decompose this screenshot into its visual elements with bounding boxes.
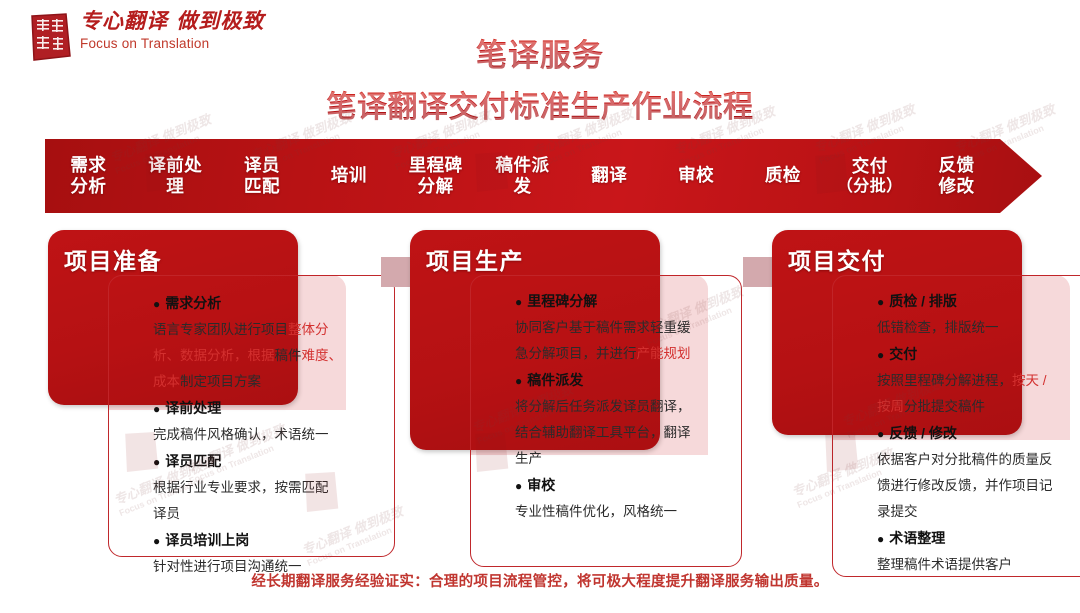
- phase-item-title: ●译前处理: [153, 395, 398, 422]
- step-label-line1: 稿件派: [481, 155, 564, 176]
- bullet-dot-icon: ●: [877, 348, 884, 362]
- desc-text: 语言专家团队进行项目: [153, 322, 288, 337]
- process-step-3[interactable]: 译员匹配: [219, 155, 306, 198]
- step-label-line2: 发: [481, 176, 564, 197]
- phase-item-desc-line: 根据行业专业要求，按需匹配: [153, 475, 398, 501]
- accent-square: [743, 257, 773, 287]
- phase-item-title: ●译员培训上岗: [153, 527, 398, 554]
- step-label-line1: 翻译: [568, 165, 651, 186]
- title-main: 笔译服务: [0, 30, 1080, 75]
- step-label-line1: 需求: [47, 155, 130, 176]
- process-step-1[interactable]: 需求分析: [45, 155, 132, 198]
- bullet-dot-icon: ●: [877, 295, 884, 309]
- desc-highlight: 整体分: [288, 322, 329, 337]
- step-label-line2: 理: [134, 176, 217, 197]
- phase-item-desc-line: 协同客户基于稿件需求轻重缓: [515, 315, 745, 341]
- phase-item-desc-line: 译员: [153, 501, 398, 527]
- desc-text: 将分解后任务派发译员翻译，: [515, 399, 691, 414]
- step-label-line1: 反馈: [915, 155, 998, 176]
- bullet-dot-icon: ●: [515, 374, 522, 388]
- phase-item-title: ●里程碑分解: [515, 288, 745, 315]
- step-label-line2: 分析: [47, 176, 130, 197]
- phase-item-desc-line: 录提交: [877, 499, 1080, 525]
- phase-header-title: 项目交付: [788, 242, 886, 276]
- process-step-list: 需求分析译前处理译员匹配培训里程碑分解稿件派发翻译审校质检交付（分批）反馈修改: [45, 139, 1000, 213]
- phase-item-title-text: 质检 / 排版: [889, 293, 957, 309]
- desc-text: 分批提交稿件: [904, 399, 985, 414]
- phase-item-title: ●需求分析: [153, 290, 398, 317]
- phase-item-title: ●质检 / 排版: [877, 288, 1080, 315]
- desc-text: 馈进行修改反馈，并作项目记: [877, 478, 1053, 493]
- phase-item-desc-line: 结合辅助翻译工具平台，翻译: [515, 420, 745, 446]
- step-label-line1: 质检: [742, 165, 825, 186]
- bullet-dot-icon: ●: [515, 295, 522, 309]
- desc-text: 生产: [515, 451, 542, 466]
- phase-item-title-text: 交付: [889, 346, 917, 362]
- step-label-line1: 译前处: [134, 155, 217, 176]
- phase-item-desc-line: 依据客户对分批稿件的质量反: [877, 447, 1080, 473]
- bullet-dot-icon: ●: [877, 427, 884, 441]
- desc-text: 专业性稿件优化，风格统一: [515, 504, 677, 519]
- page-title: 笔译服务 笔译翻译交付标准生产作业流程: [0, 30, 1080, 126]
- footer-note: 经长期翻译服务经验证实：合理的项目流程管控，将可极大程度提升翻译服务输出质量。: [0, 570, 1080, 591]
- desc-text: 稿件: [275, 348, 302, 363]
- step-label-line2: （分批）: [828, 177, 911, 197]
- step-label-line1: 培训: [307, 165, 390, 186]
- step-label-line1: 里程碑: [394, 155, 477, 176]
- phase-item-title-text: 需求分析: [165, 295, 221, 311]
- process-step-11[interactable]: 反馈修改: [913, 155, 1000, 198]
- bullet-dot-icon: ●: [153, 534, 160, 548]
- phase-item-title-text: 稿件派发: [527, 372, 583, 388]
- phase-item-desc-line: 低错检查，排版统一: [877, 315, 1080, 341]
- phase-item-title-text: 译员匹配: [165, 453, 221, 469]
- phase-header-title: 项目生产: [426, 242, 524, 276]
- phase-header-title: 项目准备: [64, 242, 162, 276]
- process-step-8[interactable]: 审校: [653, 165, 740, 186]
- phase-item-desc-line: 析、数据分析，根据稿件难度、: [153, 343, 398, 369]
- process-step-10[interactable]: 交付（分批）: [826, 156, 913, 197]
- phase-item-title-text: 术语整理: [889, 530, 945, 546]
- step-label-line2: 修改: [915, 176, 998, 197]
- desc-text: 依据客户对分批稿件的质量反: [877, 452, 1053, 467]
- desc-text: 按照里程碑分解进程，: [877, 373, 1012, 388]
- phase-item-title: ●译员匹配: [153, 448, 398, 475]
- phase-card-1: 项目准备●需求分析语言专家团队进行项目整体分析、数据分析，根据稿件难度、成本制定…: [48, 230, 403, 565]
- process-step-2[interactable]: 译前处理: [132, 155, 219, 198]
- phase-item-desc-line: 馈进行修改反馈，并作项目记: [877, 473, 1080, 499]
- desc-highlight: 产能规划: [637, 346, 691, 361]
- step-label-line1: 审校: [655, 165, 738, 186]
- phase-item-title-text: 审校: [527, 477, 555, 493]
- process-step-7[interactable]: 翻译: [566, 165, 653, 186]
- phase-item-title: ●稿件派发: [515, 367, 745, 394]
- desc-text: 低错检查，排版统一: [877, 320, 999, 335]
- step-label-line2: 匹配: [221, 176, 304, 197]
- bullet-dot-icon: ●: [153, 297, 160, 311]
- accent-square: [381, 257, 411, 287]
- phase-item-title-text: 译员培训上岗: [165, 532, 249, 548]
- logo-slogan-cn: 专心翻译 做到极致: [80, 10, 264, 31]
- slide-canvas: 专心翻译 做到极致 Focus on Translation 笔译服务 笔译翻译…: [0, 0, 1080, 613]
- phase-item-desc-line: 急分解项目，并进行产能规划: [515, 341, 745, 367]
- desc-text: 完成稿件风格确认，术语统一: [153, 427, 329, 442]
- desc-text: 协同客户基于稿件需求轻重缓: [515, 320, 691, 335]
- process-step-9[interactable]: 质检: [740, 165, 827, 186]
- desc-text: 译员: [153, 506, 180, 521]
- title-sub: 笔译翻译交付标准生产作业流程: [0, 82, 1080, 126]
- phase-item-desc-line: 生产: [515, 446, 745, 472]
- desc-highlight: 按天 /: [1012, 373, 1047, 388]
- phase-item-desc-line: 专业性稿件优化，风格统一: [515, 499, 745, 525]
- phase-item-title-text: 反馈 / 修改: [889, 425, 957, 441]
- phase-item-title: ●反馈 / 修改: [877, 420, 1080, 447]
- desc-highlight: 成本: [153, 374, 180, 389]
- phase-card-3: 项目交付●质检 / 排版低错检查，排版统一●交付按照里程碑分解进程，按天 /按周…: [772, 230, 1080, 585]
- desc-highlight: 按周: [877, 399, 904, 414]
- phase-item-desc-line: 按周分批提交稿件: [877, 394, 1080, 420]
- process-step-5[interactable]: 里程碑分解: [392, 155, 479, 198]
- phase-item-title: ●术语整理: [877, 525, 1080, 552]
- phase-item-list: ●里程碑分解协同客户基于稿件需求轻重缓急分解项目，并进行产能规划●稿件派发将分解…: [515, 288, 745, 525]
- phase-item-desc-line: 成本制定项目方案: [153, 369, 398, 395]
- step-label-line1: 译员: [221, 155, 304, 176]
- phase-item-desc-line: 语言专家团队进行项目整体分: [153, 317, 398, 343]
- phase-item-list: ●需求分析语言专家团队进行项目整体分析、数据分析，根据稿件难度、成本制定项目方案…: [153, 290, 398, 580]
- phase-card-2: 项目生产●里程碑分解协同客户基于稿件需求轻重缓急分解项目，并进行产能规划●稿件派…: [410, 230, 750, 575]
- phase-item-title-text: 译前处理: [165, 400, 221, 416]
- bullet-dot-icon: ●: [153, 402, 160, 416]
- bullet-dot-icon: ●: [515, 479, 522, 493]
- phase-item-title: ●交付: [877, 341, 1080, 368]
- step-label-line2: 分解: [394, 176, 477, 197]
- phase-item-desc-line: 按照里程碑分解进程，按天 /: [877, 368, 1080, 394]
- desc-text: 制定项目方案: [180, 374, 261, 389]
- phase-item-desc-line: 完成稿件风格确认，术语统一: [153, 422, 398, 448]
- desc-highlight: 难度、: [302, 348, 343, 363]
- bullet-dot-icon: ●: [153, 455, 160, 469]
- desc-text: 录提交: [877, 504, 918, 519]
- desc-text: 根据行业专业要求，按需匹配: [153, 480, 329, 495]
- phase-item-desc-line: 将分解后任务派发译员翻译，: [515, 394, 745, 420]
- phase-item-title: ●审校: [515, 472, 745, 499]
- desc-text: 急分解项目，并进行: [515, 346, 637, 361]
- process-step-4[interactable]: 培训: [305, 165, 392, 186]
- desc-highlight: 析、数据分析，根据: [153, 348, 275, 363]
- phase-item-list: ●质检 / 排版低错检查，排版统一●交付按照里程碑分解进程，按天 /按周分批提交…: [877, 288, 1080, 578]
- desc-text: 结合辅助翻译工具平台，翻译: [515, 425, 691, 440]
- process-arrow-banner: 需求分析译前处理译员匹配培训里程碑分解稿件派发翻译审校质检交付（分批）反馈修改: [45, 139, 1042, 213]
- process-step-6[interactable]: 稿件派发: [479, 155, 566, 198]
- phase-item-title-text: 里程碑分解: [527, 293, 597, 309]
- bullet-dot-icon: ●: [877, 532, 884, 546]
- step-label-line1: 交付: [828, 156, 911, 177]
